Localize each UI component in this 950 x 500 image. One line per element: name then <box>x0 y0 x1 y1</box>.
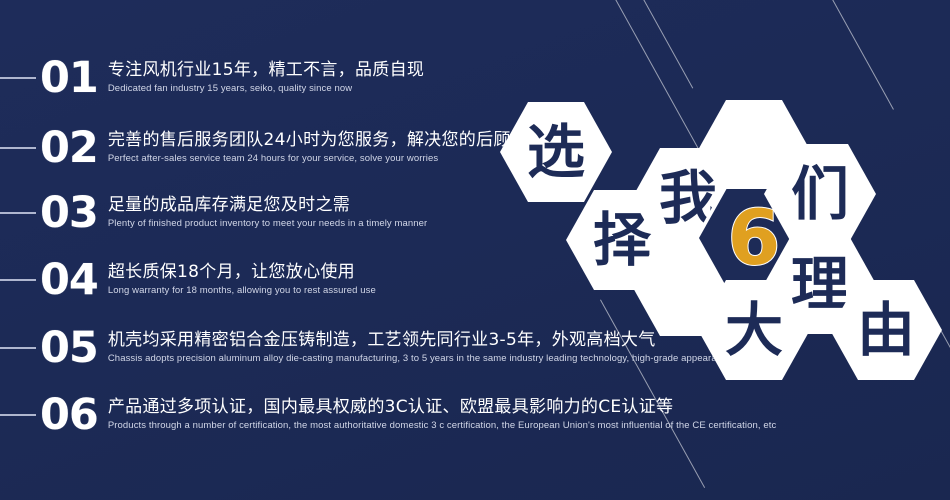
reason-number: 04 <box>40 259 108 302</box>
reason-leader-line <box>0 279 36 281</box>
hex-char-xuan: 选 <box>527 123 585 181</box>
hex-char-men: 们 <box>791 165 849 223</box>
reason-leader-line <box>0 147 36 149</box>
hex-number-six: 6 <box>728 200 781 276</box>
reason-title-en: Perfect after-sales service team 24 hour… <box>108 153 545 165</box>
reason-text-block: 完善的售后服务团队24小时为您服务，解决您的后顾之忧 Perfect after… <box>108 130 545 166</box>
reason-number: 06 <box>40 394 108 437</box>
reason-title-en: Dedicated fan industry 15 years, seiko, … <box>108 83 424 95</box>
reason-title-cn: 专注风机行业15年，精工不言，品质自现 <box>108 60 424 81</box>
hex-char-da: 大 <box>725 301 783 359</box>
reason-leader-line <box>0 347 36 349</box>
reason-text-block: 专注风机行业15年，精工不言，品质自现 Dedicated fan indust… <box>108 60 424 96</box>
reason-item-02: 02 完善的售后服务团队24小时为您服务，解决您的后顾之忧 Perfect af… <box>0 120 545 176</box>
reason-number: 01 <box>40 57 108 100</box>
reason-item-01: 01 专注风机行业15年，精工不言，品质自现 Dedicated fan ind… <box>0 50 424 106</box>
hexagon-cluster: 选 择 我 6 大 们 理 <box>490 80 950 410</box>
reason-item-04: 04 超长质保18个月，让您放心使用 Long warranty for 18 … <box>0 252 376 308</box>
reason-item-03: 03 足量的成品库存满足您及时之需 Plenty of finished pro… <box>0 185 427 241</box>
reason-title-en: Products through a number of certificati… <box>108 420 776 432</box>
reason-leader-line <box>0 414 36 416</box>
reason-title-en: Long warranty for 18 months, allowing yo… <box>108 285 376 297</box>
reason-title-cn: 超长质保18个月，让您放心使用 <box>108 262 376 283</box>
reason-title-cn: 足量的成品库存满足您及时之需 <box>108 195 427 216</box>
reason-number: 03 <box>40 192 108 235</box>
hex-char-ze: 择 <box>593 211 651 269</box>
reason-title-cn: 完善的售后服务团队24小时为您服务，解决您的后顾之忧 <box>108 130 545 151</box>
hex-cell-xuan: 选 <box>500 102 612 202</box>
reason-text-block: 超长质保18个月，让您放心使用 Long warranty for 18 mon… <box>108 262 376 298</box>
reason-number: 02 <box>40 127 108 170</box>
reason-text-block: 足量的成品库存满足您及时之需 Plenty of finished produc… <box>108 195 427 231</box>
reason-leader-line <box>0 212 36 214</box>
reason-leader-line <box>0 77 36 79</box>
reason-number: 05 <box>40 327 108 370</box>
hex-char-li: 理 <box>791 255 849 313</box>
banner-canvas: 01 专注风机行业15年，精工不言，品质自现 Dedicated fan ind… <box>0 0 950 500</box>
reason-title-en: Plenty of finished product inventory to … <box>108 218 427 230</box>
hex-char-you: 由 <box>857 301 915 359</box>
